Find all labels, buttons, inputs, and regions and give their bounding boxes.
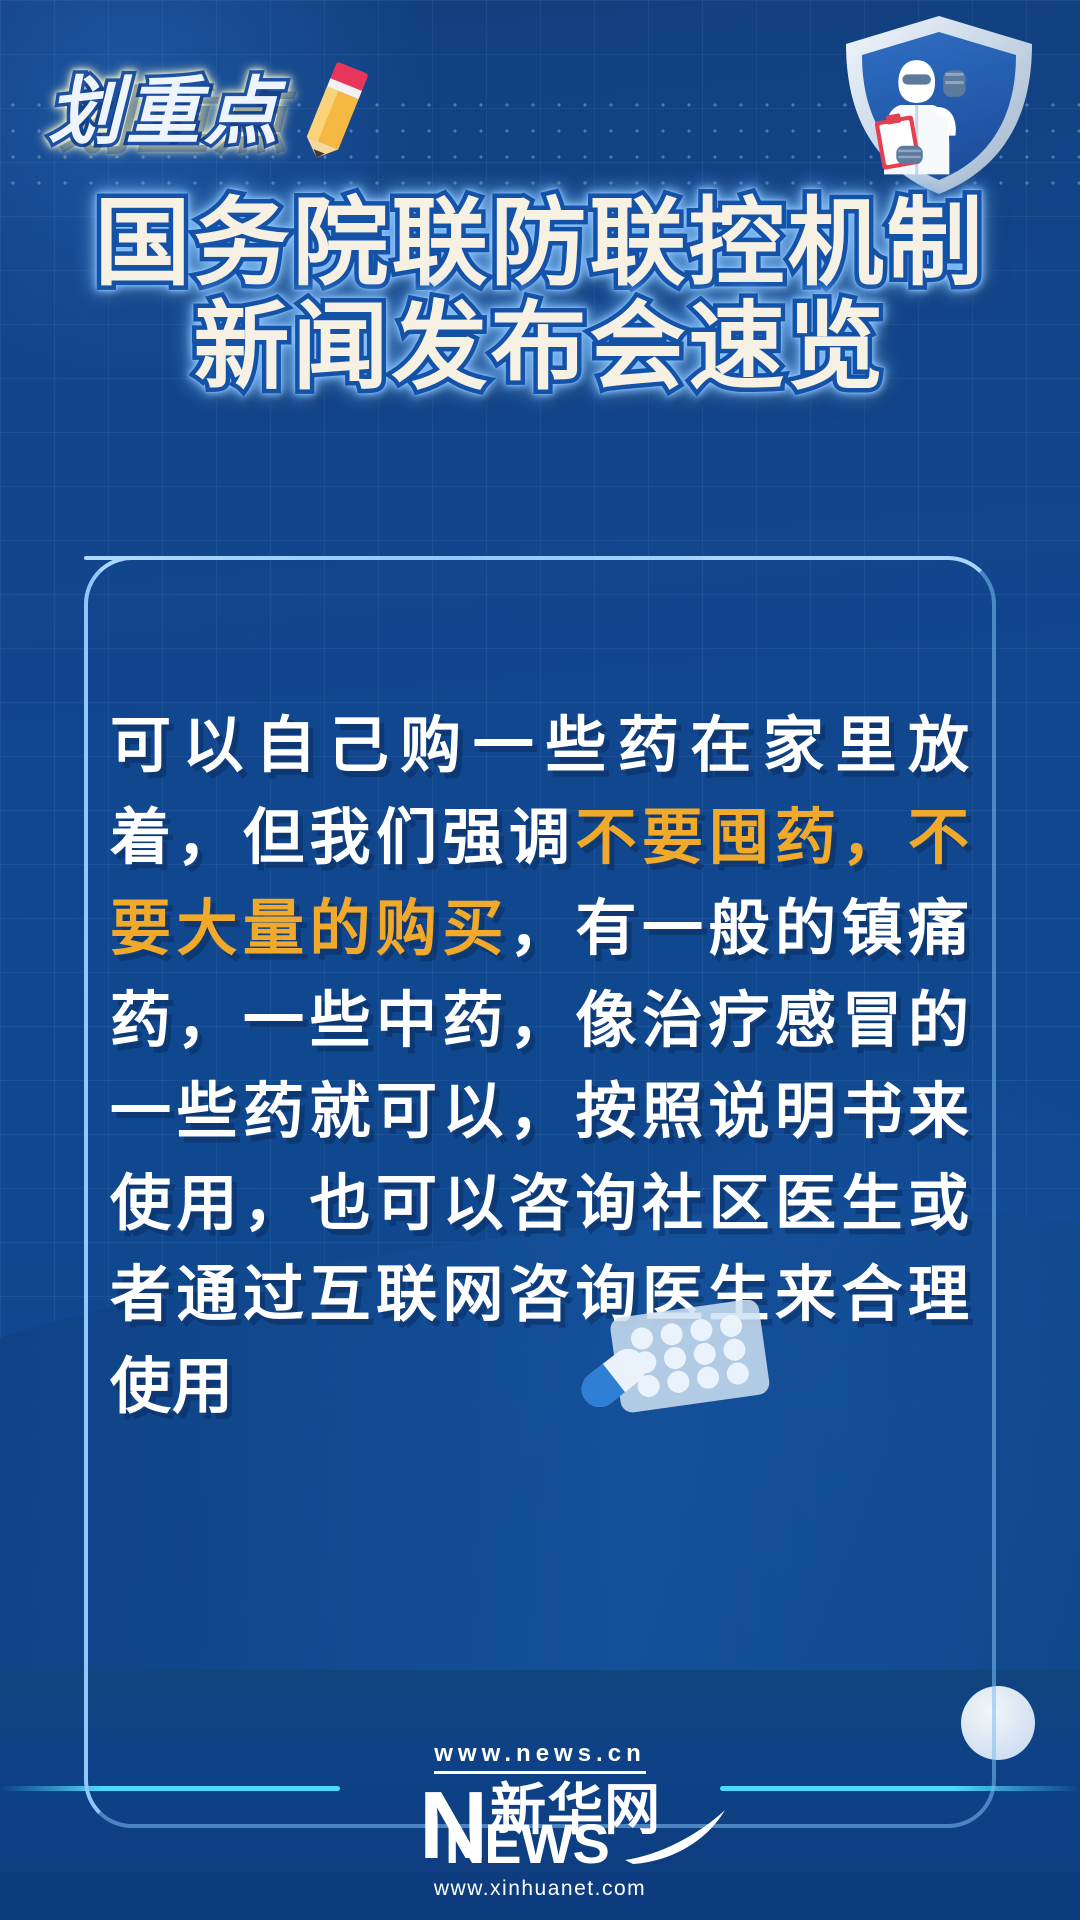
- quote-body: 可以自己购一些药在家里放着，但我们强调不要囤药，不要大量的购买，有一般的镇痛药，…: [110, 700, 970, 1432]
- logo-news-word: NEWS: [445, 1816, 609, 1872]
- highlight-badge: 划重点: [48, 60, 380, 164]
- swoosh-icon: [621, 1808, 731, 1864]
- pencil-icon: [288, 60, 380, 164]
- logo-mark: N 新华网 NEWS: [419, 1782, 661, 1866]
- page-title: 国务院联防联控机制 新闻发布会速览: [0, 192, 1080, 399]
- highlight-badge-label: 划重点: [48, 75, 282, 149]
- title-line-2: 新闻发布会速览: [0, 296, 1080, 400]
- shield-medical-worker-icon: [824, 8, 1054, 198]
- logo-url-bottom: www.xinhuanet.com: [434, 1878, 646, 1899]
- title-line-1: 国务院联防联控机制: [0, 192, 1080, 296]
- poster-root: 划重点: [0, 0, 1080, 1920]
- logo-url-top: www.news.cn: [434, 1742, 645, 1774]
- quote-part-2: ，有一般的镇痛药，一些中药，像治疗感冒的一些药就可以，按照说明书来使用，也可以咨…: [110, 894, 970, 1420]
- pill-blister-pack-icon: [576, 1300, 776, 1430]
- xinhua-logo: www.news.cn N 新华网 NEWS www.xinhuanet.com: [0, 1742, 1080, 1899]
